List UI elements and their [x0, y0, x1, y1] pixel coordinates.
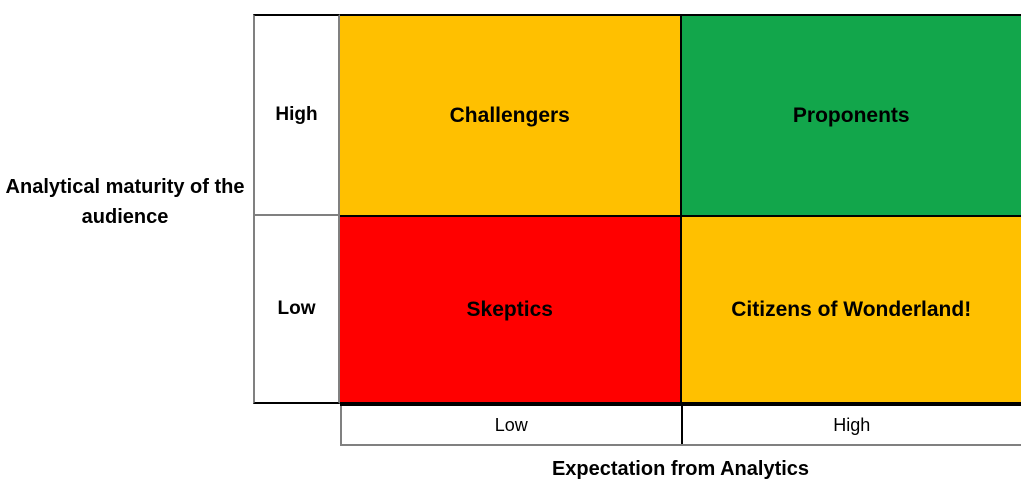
matrix-row-low: Low Skeptics Citizens of Wonderland! — [253, 216, 1021, 404]
quadrant-cell-challengers[interactable]: Challengers — [340, 14, 682, 216]
y-tick-label-high: High — [253, 14, 340, 216]
y-axis-title: Analytical maturity of the audience — [0, 172, 250, 232]
x-tick-label-high: High — [681, 406, 1021, 444]
quadrant-matrix: High Challengers Proponents Low Skeptics… — [253, 14, 1021, 404]
quadrant-cell-citizens-of-wonderland[interactable]: Citizens of Wonderland! — [682, 216, 1021, 404]
x-axis-title: Expectation from Analytics — [340, 458, 1021, 481]
x-tick-label-low: Low — [340, 406, 681, 444]
quadrant-cell-skeptics[interactable]: Skeptics — [340, 216, 682, 404]
y-tick-label-low: Low — [253, 216, 340, 404]
matrix-row-high: High Challengers Proponents — [253, 14, 1021, 216]
x-axis-tick-row: Low High — [340, 404, 1021, 446]
quadrant-cell-proponents[interactable]: Proponents — [682, 14, 1021, 216]
